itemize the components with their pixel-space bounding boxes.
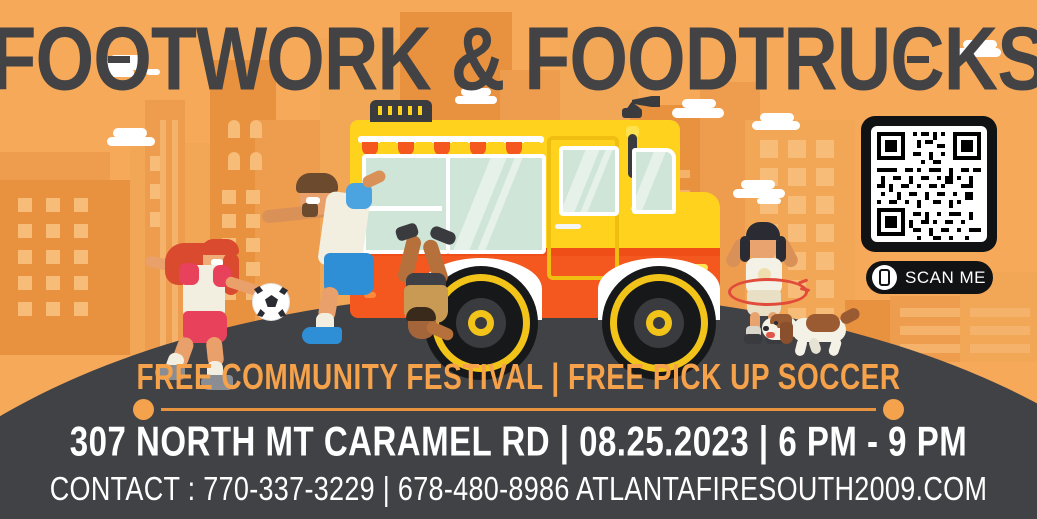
dog-eye [774, 321, 778, 325]
divider-dot-right [883, 399, 904, 420]
breakdancing-boy [392, 225, 478, 335]
running-girl [145, 237, 265, 362]
qr-code-panel[interactable] [861, 116, 997, 252]
player-shoe [302, 327, 342, 344]
player-mouth [306, 197, 320, 204]
page-title-text: FOOTWORK & FOODTRUCKS [0, 14, 1037, 104]
running-beagle-dog [762, 310, 862, 358]
hoopgirl-braid-left [740, 236, 750, 262]
dog-leg-front [794, 337, 808, 357]
page-title: FOOTWORK & FOODTRUCKS [0, 14, 1037, 88]
flyer-poster: FOOTWORK & FOODTRUCKS [0, 0, 1037, 519]
subtitle-line: FREE COMMUNITY FESTIVAL | FREE PICK UP S… [0, 357, 1037, 389]
player-hair [296, 173, 338, 193]
scan-me-badge[interactable]: SCAN ME [866, 261, 993, 294]
contact-text: CONTACT : 770-337-3229 | 678-480-8986 AT… [50, 470, 988, 509]
divider-dot-left [133, 399, 154, 420]
truck-windshield [632, 148, 676, 214]
qr-code-image[interactable] [871, 126, 987, 242]
truck-door-handle [555, 224, 581, 229]
hoopgirl-hair [746, 222, 780, 240]
phone-icon [872, 265, 897, 290]
address-line: 307 NORTH MT CARAMEL RD | 08.25.2023 | 6… [0, 418, 1037, 456]
divider-bar [161, 408, 876, 411]
dog-back-patch [806, 314, 840, 332]
dog-ear [780, 322, 793, 344]
hoopgirl-shoe-left [744, 334, 762, 344]
soccer-ball [252, 283, 290, 321]
truck-roof-vent [370, 100, 432, 122]
girl-sleeve-left [179, 263, 199, 285]
dog-nose [763, 326, 769, 331]
divider [133, 404, 904, 415]
hoop-motion-line [798, 278, 808, 284]
scan-me-label: SCAN ME [905, 268, 986, 288]
address-text: 307 NORTH MT CARAMEL RD | 08.25.2023 | 6… [70, 418, 967, 466]
dancer-hair [406, 307, 436, 321]
subtitle-text: FREE COMMUNITY FESTIVAL | FREE PICK UP S… [136, 357, 900, 398]
truck-horn-icon [622, 96, 660, 118]
hula-hoop [728, 278, 808, 306]
contact-line: CONTACT : 770-337-3229 | 678-480-8986 AT… [0, 470, 1037, 501]
truck-door-window [559, 146, 619, 216]
dog-tongue [766, 332, 775, 338]
player-beard [302, 203, 318, 217]
